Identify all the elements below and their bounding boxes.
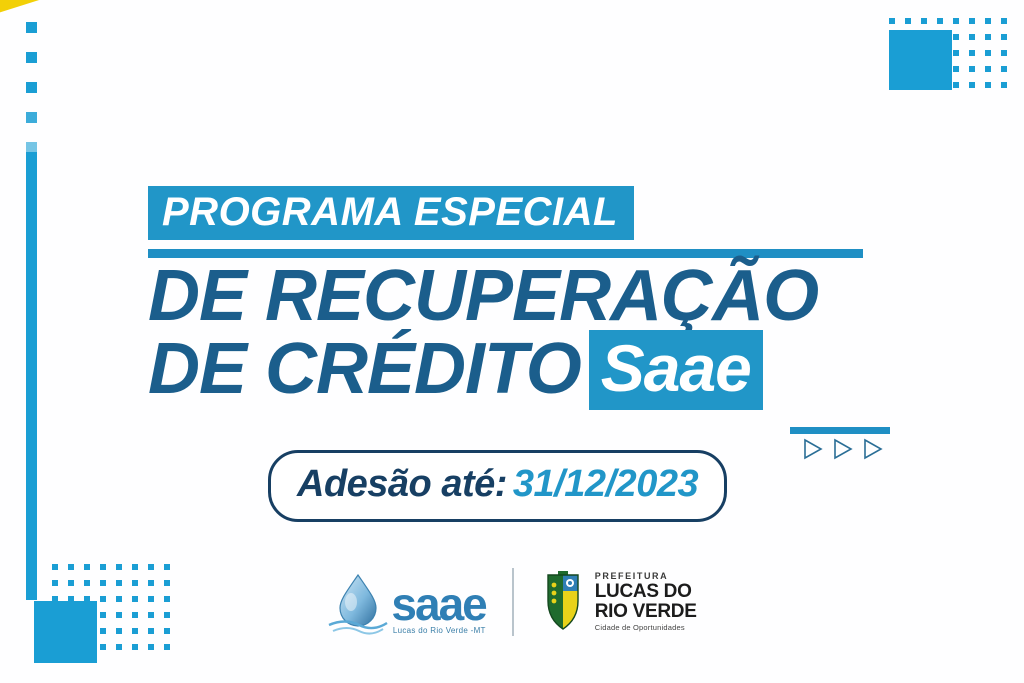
ribbon-label: Última semana!	[0, 0, 510, 22]
prefeitura-name-line-1: LUCAS DO	[595, 582, 697, 602]
top-right-square	[889, 30, 952, 90]
water-droplet-icon	[327, 569, 389, 635]
deadline-label: Adesão até:	[297, 463, 507, 505]
coat-of-arms-icon	[540, 571, 586, 633]
saae-wordmark: saae	[391, 584, 485, 625]
play-triangle-icon	[860, 437, 884, 461]
deadline-date: 31/12/2023	[513, 463, 698, 505]
headline-line-1: DE RECUPERAÇÃO	[148, 262, 948, 332]
brand-chip-saae: Saae	[589, 330, 763, 410]
arrow-rule	[790, 427, 890, 434]
prefeitura-text-block: PREFEITURA LUCAS DO RIO VERDE Cidade de …	[595, 572, 697, 631]
decor-dot	[26, 22, 37, 33]
left-dot-column	[26, 22, 37, 172]
left-vertical-rule	[26, 152, 37, 600]
promotional-banner: Última semana! PROGRAMA ESPECIAL DE RECU…	[0, 0, 1024, 683]
prefeitura-logo: PREFEITURA LUCAS DO RIO VERDE Cidade de …	[540, 571, 697, 633]
saae-logo: saae Lucas do Rio Verde -MT	[327, 569, 485, 635]
play-triangle-icon	[800, 437, 824, 461]
headline-kicker: PROGRAMA ESPECIAL	[148, 186, 634, 240]
prefeitura-name-line-2: RIO VERDE	[595, 602, 697, 622]
footer-logos: saae Lucas do Rio Verde -MT PREFEITURA L…	[0, 568, 1024, 636]
saae-wordmark-block: saae Lucas do Rio Verde -MT	[391, 584, 485, 635]
last-week-ribbon: Última semana!	[0, 0, 516, 42]
decor-dot	[26, 112, 37, 123]
decor-dot	[26, 82, 37, 93]
decor-dot	[26, 52, 37, 63]
prefeitura-slogan: Cidade de Oportunidades	[595, 624, 697, 632]
saae-tagline: Lucas do Rio Verde -MT	[393, 626, 486, 635]
headline-block: PROGRAMA ESPECIAL DE RECUPERAÇÃO DE CRÉD…	[148, 186, 948, 410]
headline-line-2: DE CRÉDITO	[148, 335, 581, 405]
logo-divider	[512, 568, 514, 636]
deadline-badge: Adesão até:31/12/2023	[268, 450, 727, 522]
headline-line-2-row: DE CRÉDITO Saae	[148, 330, 948, 410]
play-triangle-icon	[830, 437, 854, 461]
arrow-group	[800, 437, 884, 461]
